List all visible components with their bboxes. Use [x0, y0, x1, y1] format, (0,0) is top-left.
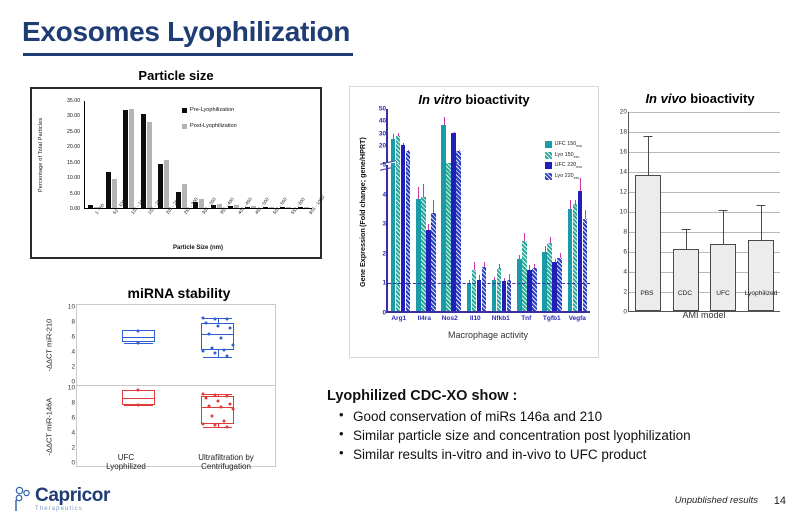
in-vitro-y-tick: 20 [379, 143, 386, 150]
error-bar [484, 262, 485, 266]
in-vitro-y-axis-label: Gene Expression (Fold change; gene/HPRT) [352, 117, 374, 307]
particle-size-y-tick: 35.00 [67, 98, 80, 104]
particle-size-legend: Pre-LyophilizationPost-Lyophilization [182, 107, 237, 139]
in-vivo-y-tick: 14 [620, 169, 627, 176]
boxplot-data-point [207, 333, 210, 336]
error-bar [550, 237, 551, 243]
legend-label: Lyo 150exo [555, 152, 580, 159]
particle-size-x-axis-label: Particle Size (nm) [84, 245, 312, 251]
particle-size-bar [182, 184, 187, 208]
conclusion-item: Good conservation of miRs 146a and 210 [353, 407, 797, 426]
particle-size-y-tick: 5.00 [70, 191, 80, 197]
boxplot-data-point [137, 404, 140, 407]
error-bar [524, 233, 525, 242]
in-vitro-bar-upper [451, 133, 456, 165]
error-bar [575, 200, 576, 204]
boxplot-data-point [201, 316, 204, 319]
in-vitro-bioactivity-chart: In vitro bioactivity Gene Expression (Fo… [349, 86, 599, 358]
in-vivo-x-tick: UFC [704, 290, 742, 297]
particle-size-bar-group [155, 101, 172, 208]
error-bar [545, 246, 546, 252]
in-vitro-y-label-line2: (Fold change; gene/HPRT) [359, 137, 367, 227]
boxplot-data-point [210, 346, 213, 349]
error-bar [433, 200, 434, 213]
error-bar [585, 210, 586, 219]
particle-size-y-tick: 10.00 [67, 175, 80, 181]
error-bar-cap [757, 205, 766, 206]
error-bar [479, 275, 480, 279]
legend-label: UFC 150exo [555, 141, 582, 148]
error-bar [408, 150, 409, 151]
in-vitro-x-tick: Il10 [463, 315, 489, 322]
error-bar [423, 184, 424, 197]
boxplot-data-point [137, 329, 140, 332]
boxplot-median [201, 407, 234, 408]
in-vitro-bar [552, 262, 557, 311]
in-vitro-bar-upper [441, 125, 446, 165]
legend-label: UFC 220exo [555, 162, 582, 169]
particle-size-chart: Particle size Percentage of Total Partic… [26, 68, 326, 263]
particle-size-bar [112, 179, 117, 208]
mirna-y-tick: 4 [71, 429, 75, 436]
boxplot-data-point [216, 399, 219, 402]
in-vivo-x-tick: PBS [628, 290, 666, 297]
mirna-y-tick: 10 [68, 384, 75, 391]
in-vitro-bar [426, 230, 431, 311]
boxplot-median [201, 334, 234, 335]
in-vivo-y-tick: 2 [623, 289, 627, 296]
mirna-x-ticks: UFCLyophilizedUltrafiltration byCentrifu… [76, 453, 276, 471]
error-bar [529, 265, 530, 269]
boxplot-data-point [137, 341, 140, 344]
legend-swatch [545, 173, 552, 180]
error-bar [519, 255, 520, 259]
logo-mark-icon [12, 486, 34, 512]
in-vitro-bar [401, 163, 406, 311]
error-bar [444, 117, 445, 124]
mirna-plot-frame: -ΔΔCT miR-2100246810-ΔΔCT miR-146A024681… [76, 304, 276, 467]
error-bar [393, 134, 394, 139]
in-vitro-y-tick: 5 [382, 162, 386, 169]
particle-size-y-tick: 20.00 [67, 144, 80, 150]
boxplot-data-point [201, 392, 204, 395]
in-vitro-bar [391, 163, 396, 311]
particle-size-bar-group [120, 101, 137, 208]
boxplot-data-point [204, 397, 207, 400]
in-vitro-x-tick: Tgfb1 [539, 315, 565, 322]
error-bar [459, 150, 460, 151]
particle-size-bar-group [85, 101, 102, 208]
in-vitro-bar [547, 243, 552, 311]
mirna-x-tick-line: UFC [76, 453, 176, 462]
in-vitro-bar [497, 268, 502, 311]
in-vitro-bar-group [464, 165, 489, 311]
in-vivo-y-tick: 12 [620, 189, 627, 196]
in-vitro-bar-group-upper [464, 109, 489, 165]
in-vitro-bar-group [540, 165, 565, 311]
legend-label-subscript: exo [574, 176, 580, 180]
mirna-y-tick: 0 [71, 459, 75, 466]
in-vitro-bar-group-upper [514, 109, 539, 165]
in-vitro-reference-line [388, 283, 590, 284]
conclusions-list: Good conservation of miRs 146a and 210Si… [327, 407, 797, 464]
error-bar [648, 137, 649, 176]
particle-size-legend-item: Post-Lyophilization [182, 123, 237, 129]
in-vitro-plot-frame: Gene Expression (Fold change; gene/HPRT)… [386, 109, 590, 331]
particle-size-bar [141, 114, 146, 208]
in-vivo-plot-frame: 02468101214161820 [628, 112, 780, 312]
boxplot-data-point [231, 344, 234, 347]
in-vivo-bar-group [742, 112, 780, 311]
mirna-y-ticks: 0246810 [61, 386, 75, 467]
particle-size-plot-frame: Percentage of Total Particles 0.005.0010… [30, 87, 322, 259]
error-bar-cap [643, 136, 652, 137]
boxplot-data-point [216, 325, 219, 328]
in-vitro-x-tick: Nfkb1 [488, 315, 514, 322]
in-vivo-y-tick: 0 [623, 309, 627, 316]
particle-size-y-ticks: 0.005.0010.0015.0020.0025.0030.0035.00 [50, 95, 82, 215]
error-bar [398, 133, 399, 136]
in-vitro-bar [492, 280, 497, 311]
boxplot-data-point [228, 327, 231, 330]
in-vivo-x-ticks: PBSCDCUFCLyophilized [628, 290, 780, 297]
mirna-y-tick: 6 [71, 334, 75, 341]
in-vitro-bar [578, 191, 583, 311]
mirna-y-tick: 4 [71, 349, 75, 356]
in-vitro-legend-item: Lyo 220exo [545, 173, 582, 180]
in-vitro-y-tick: 3 [382, 221, 386, 228]
mirna-boxplot [192, 305, 243, 385]
in-vivo-y-tick: 6 [623, 249, 627, 256]
particle-size-bar [217, 204, 222, 208]
error-bar [509, 274, 510, 280]
in-vitro-y-tick: 4 [382, 191, 386, 198]
in-vitro-legend: UFC 150exoLyo 150exoUFC 220exoLyo 220exo [545, 141, 582, 183]
boxplot-data-point [201, 349, 204, 352]
in-vitro-bar [573, 204, 578, 311]
particle-size-bar [88, 205, 93, 208]
particle-size-bar [129, 109, 134, 208]
in-vivo-title: In vivo bioactivity [604, 91, 796, 106]
in-vitro-bar [482, 267, 487, 311]
particle-size-bar [106, 172, 111, 208]
in-vitro-x-tick: Nos2 [437, 315, 463, 322]
particle-size-bar-group [242, 101, 259, 208]
in-vitro-bar [406, 163, 411, 311]
in-vivo-y-tick: 20 [620, 109, 627, 116]
in-vitro-bar [446, 163, 451, 311]
in-vivo-bar-group [667, 112, 705, 311]
conclusions-heading: Lyophilized CDC-XO show : [327, 388, 797, 404]
boxplot-data-point [137, 389, 140, 392]
error-bar [474, 262, 475, 269]
in-vitro-y-tick: 50 [379, 106, 386, 113]
in-vivo-x-axis-label: AMI model [628, 310, 780, 320]
error-bar [560, 253, 561, 257]
in-vitro-bar-upper [401, 145, 406, 165]
in-vitro-legend-item: UFC 220exo [545, 162, 582, 169]
capricor-logo: Capricor Therapeutics [12, 486, 110, 512]
mirna-x-tick-line: Ultrafiltration by [176, 453, 276, 462]
in-vitro-title-italic: In vitro [418, 92, 461, 107]
in-vitro-bar [467, 283, 472, 311]
in-vivo-x-tick: Lyophilized [742, 290, 780, 297]
particle-size-y-tick: 25.00 [67, 129, 80, 135]
particle-size-bar-group [137, 101, 154, 208]
mirna-stability-title: miRNA stability [34, 285, 324, 301]
mirna-x-tick: Ultrafiltration byCentrifugation [176, 453, 276, 471]
in-vitro-bar-upper [396, 136, 401, 165]
in-vitro-bar [451, 163, 456, 311]
in-vitro-bar [568, 209, 573, 311]
slide-title: Exosomes Lyophilization [22, 16, 350, 48]
mirna-y-tick: 2 [71, 444, 75, 451]
particle-size-legend-item: Pre-Lyophilization [182, 107, 237, 113]
conclusions-block: Lyophilized CDC-XO show : Good conservat… [327, 388, 797, 464]
legend-swatch [545, 162, 552, 169]
particle-size-bar [234, 205, 239, 208]
in-vitro-bar [456, 163, 461, 311]
logo-subtitle: Therapeutics [35, 506, 110, 512]
in-vitro-bar-group-upper [388, 109, 413, 165]
in-vitro-bar [416, 199, 421, 311]
mirna-y-axis-label: -ΔΔCT miR-146A [41, 386, 57, 467]
in-vitro-y-label-line1: Gene Expression [359, 229, 367, 288]
in-vitro-y-tick: 30 [379, 130, 386, 137]
logo-name: Capricor [35, 486, 110, 505]
in-vitro-upper-y-ticks: 20304050 [373, 109, 386, 165]
in-vitro-legend-item: Lyo 150exo [545, 152, 582, 159]
mirna-y-tick: 2 [71, 364, 75, 371]
particle-size-bar [199, 199, 204, 208]
in-vitro-bar [522, 241, 527, 311]
in-vitro-bar-group [514, 165, 539, 311]
mirna-stability-chart: miRNA stability -ΔΔCT miR-2100246810-ΔΔC… [34, 285, 324, 500]
in-vitro-y-tick: 1 [382, 280, 386, 287]
particle-size-bar-group [102, 101, 119, 208]
in-vitro-y-tick: 2 [382, 250, 386, 257]
legend-label-subscript: exo [574, 155, 580, 159]
boxplot-data-point [222, 348, 225, 351]
in-vitro-x-tick: Arg1 [386, 315, 412, 322]
boxplot-data-point [225, 317, 228, 320]
error-bar [403, 143, 404, 145]
in-vitro-bar [532, 268, 537, 311]
mirna-y-tick: 10 [68, 304, 75, 311]
mirna-x-tick-line: Lyophilized [76, 462, 176, 471]
in-vitro-bar [583, 219, 588, 311]
in-vitro-lower-axis-segment: 012345 [386, 165, 590, 313]
in-vivo-y-tick: 10 [620, 209, 627, 216]
legend-label-subscript: exo [576, 144, 582, 148]
particle-size-title: Particle size [26, 68, 326, 83]
particle-size-bar [164, 160, 169, 208]
legend-swatch [545, 141, 552, 148]
in-vivo-bar [748, 240, 774, 311]
error-bar-cap [719, 210, 728, 211]
in-vitro-x-axis-label: Macrophage activity [386, 330, 590, 340]
particle-size-y-axis-label: Percentage of Total Particles [34, 97, 48, 213]
in-vivo-title-rest: bioactivity [690, 91, 754, 106]
legend-swatch [545, 152, 552, 159]
in-vitro-lower-y-ticks: 012345 [373, 165, 386, 311]
error-bar [570, 200, 571, 209]
in-vitro-bar [502, 281, 507, 311]
in-vitro-bar-group [489, 165, 514, 311]
in-vitro-bar [542, 252, 547, 311]
particle-size-bar [304, 207, 309, 208]
in-vivo-bar-group [705, 112, 743, 311]
in-vitro-title-rest: bioactivity [465, 92, 529, 107]
boxplot-data-point [219, 337, 222, 340]
in-vitro-x-ticks: Arg1Il4raNos2Il10Nfkb1TnfTgfb1Vegfa [386, 315, 590, 322]
boxplot-data-point [207, 404, 210, 407]
in-vitro-x-tick: Il4ra [412, 315, 438, 322]
error-bar [418, 187, 419, 199]
particle-size-bar-group [277, 101, 294, 208]
boxplot-data-point [213, 318, 216, 321]
boxplot-data-point [231, 407, 234, 410]
boxplot-data-point [225, 354, 228, 357]
in-vitro-x-tick: Vegfa [565, 315, 591, 322]
mirna-y-tick: 6 [71, 414, 75, 421]
error-bar [504, 278, 505, 281]
mirna-x-tick-line: Centrifugation [176, 462, 276, 471]
in-vitro-bar [472, 270, 477, 311]
in-vitro-bar [477, 280, 482, 311]
in-vitro-bar [396, 163, 401, 311]
boxplot-whisker [218, 350, 219, 357]
particle-size-bar-group [295, 101, 312, 208]
mirna-panel: -ΔΔCT miR-2100246810 [77, 305, 275, 386]
particle-size-bar [147, 122, 152, 208]
particle-size-bar [123, 110, 128, 208]
in-vitro-bar [421, 197, 426, 311]
in-vivo-bar-group [629, 112, 667, 311]
in-vivo-bioactivity-chart: In vivo bioactivity 02468101214161820 PB… [604, 86, 796, 358]
mirna-y-axis-label: -ΔΔCT miR-210 [41, 305, 57, 385]
boxplot-data-point [213, 393, 216, 396]
legend-swatch [182, 108, 187, 113]
error-bar [555, 259, 556, 262]
particle-size-y-tick: 15.00 [67, 160, 80, 166]
boxplot-data-point [225, 425, 228, 428]
boxplot-data-point [222, 419, 225, 422]
in-vitro-bar [431, 213, 436, 311]
error-bar [761, 206, 762, 241]
mirna-y-tick: 8 [71, 319, 75, 326]
in-vitro-bar-group-upper [489, 109, 514, 165]
in-vitro-bar [507, 280, 512, 311]
particle-size-bar-group [260, 101, 277, 208]
in-vivo-y-tick: 16 [620, 149, 627, 156]
in-vivo-title-italic: In vivo [645, 91, 686, 106]
error-bar-cap [681, 229, 690, 230]
boxplot-data-point [213, 424, 216, 427]
page-number: 14 [774, 495, 786, 507]
error-bar [494, 277, 495, 280]
in-vivo-bar [710, 244, 736, 312]
boxplot-data-point [228, 402, 231, 405]
in-vitro-bar [527, 270, 532, 311]
boxplot-median [122, 398, 155, 399]
in-vitro-bar-group [439, 165, 464, 311]
in-vitro-bar [441, 163, 446, 311]
boxplot-data-point [219, 406, 222, 409]
error-bar [499, 264, 500, 268]
in-vivo-bar [673, 249, 699, 312]
in-vitro-bar-group-upper [439, 109, 464, 165]
in-vitro-bar-group [565, 165, 590, 311]
conclusion-item: Similar results in-vitro and in-vivo to … [353, 445, 797, 464]
error-bar [534, 264, 535, 268]
title-underline [23, 53, 353, 56]
in-vitro-bar-group [413, 165, 438, 311]
footer-note: Unpublished results [675, 495, 758, 506]
particle-size-bar [269, 207, 274, 208]
in-vitro-bar-group [388, 165, 413, 311]
in-vitro-legend-item: UFC 150exo [545, 141, 582, 148]
mirna-x-tick: UFCLyophilized [76, 453, 176, 471]
legend-label: Post-Lyophilization [190, 123, 237, 129]
in-vivo-y-ticks: 02468101214161820 [612, 112, 627, 311]
error-bar [723, 211, 724, 245]
error-bar [686, 230, 687, 250]
legend-label: Pre-Lyophilization [190, 107, 234, 113]
in-vivo-y-tick: 8 [623, 229, 627, 236]
error-bar [428, 224, 429, 230]
in-vivo-x-tick: CDC [666, 290, 704, 297]
in-vivo-y-tick: 18 [620, 129, 627, 136]
legend-label-subscript: exo [576, 165, 582, 169]
boxplot-data-point [213, 351, 216, 354]
in-vitro-y-tick: 40 [379, 118, 386, 125]
mirna-y-ticks: 0246810 [61, 305, 75, 385]
mirna-boxplot [113, 305, 164, 385]
boxplot-data-point [204, 322, 207, 325]
mirna-y-tick: 8 [71, 399, 75, 406]
particle-size-y-tick: 30.00 [67, 113, 80, 119]
particle-size-y-tick: 0.00 [70, 206, 80, 212]
legend-label: Lyo 220exo [555, 173, 580, 180]
in-vitro-x-tick: Tnf [514, 315, 540, 322]
in-vitro-bar-group-upper [413, 109, 438, 165]
particle-size-bar [286, 207, 291, 208]
boxplot-median [122, 337, 155, 338]
boxplot-data-point [225, 395, 228, 398]
particle-size-x-ticks: 1 - 5051 - 100101 - 150151 - 200201 - 25… [84, 211, 312, 245]
error-bar [454, 132, 455, 133]
boxplot-data-point [201, 422, 204, 425]
in-vivo-y-tick: 4 [623, 269, 627, 276]
in-vitro-bar [517, 259, 522, 311]
boxplot-data-point [210, 415, 213, 418]
conclusion-item: Similar particle size and concentration … [353, 426, 797, 445]
legend-swatch [182, 124, 187, 129]
in-vitro-title: In vitro bioactivity [350, 92, 598, 107]
